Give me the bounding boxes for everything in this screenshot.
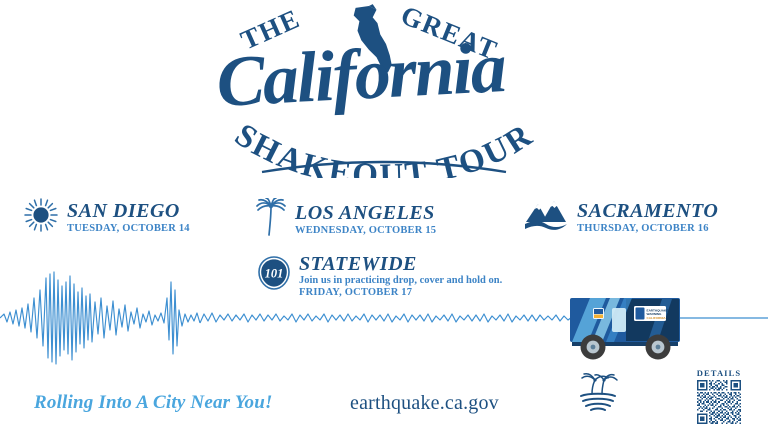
poster-canvas: THE GREAT California SHAKEOUT TOUR bbox=[0, 0, 768, 432]
city-date: THURSDAY, OCTOBER 16 bbox=[577, 223, 718, 235]
logo-script-california: California bbox=[215, 27, 508, 122]
sun-icon bbox=[24, 198, 58, 237]
truck-wheel-front bbox=[581, 335, 606, 360]
city-name: SACRAMENTO bbox=[577, 201, 718, 221]
city-entry-san-diego[interactable]: SAN DIEGO TUESDAY, OCTOBER 14 bbox=[24, 198, 190, 237]
city-name: SAN DIEGO bbox=[67, 201, 190, 221]
truck-badge-line3: CALIFORNIA bbox=[647, 316, 667, 320]
palm-tree-icon bbox=[256, 198, 286, 241]
qr-code-icon[interactable] bbox=[697, 380, 741, 424]
tagline: Rolling Into A City Near You! bbox=[34, 392, 273, 414]
city-date: TUESDAY, OCTOBER 14 bbox=[67, 223, 190, 235]
city-entry-los-angeles[interactable]: LOS ANGELES WEDNESDAY, OCTOBER 15 bbox=[256, 198, 436, 241]
shakeout-tour-logo: THE GREAT California SHAKEOUT TOUR bbox=[196, 2, 572, 178]
mountains-icon bbox=[524, 198, 568, 237]
city-name: LOS ANGELES bbox=[295, 203, 436, 223]
truck-wheel-rear bbox=[646, 335, 671, 360]
city-date: WEDNESDAY, OCTOBER 15 bbox=[295, 225, 436, 237]
delivery-truck-icon: EARTHQUAKE WARNING CALIFORNIA bbox=[566, 292, 684, 364]
details-label: DETAILS bbox=[697, 368, 741, 378]
details-qr-block[interactable]: DETAILS bbox=[688, 368, 750, 426]
website-url[interactable]: earthquake.ca.gov bbox=[350, 392, 499, 415]
palm-island-emblem-icon bbox=[574, 372, 622, 416]
city-entry-sacramento[interactable]: SACRAMENTO THURSDAY, OCTOBER 16 bbox=[524, 198, 718, 237]
